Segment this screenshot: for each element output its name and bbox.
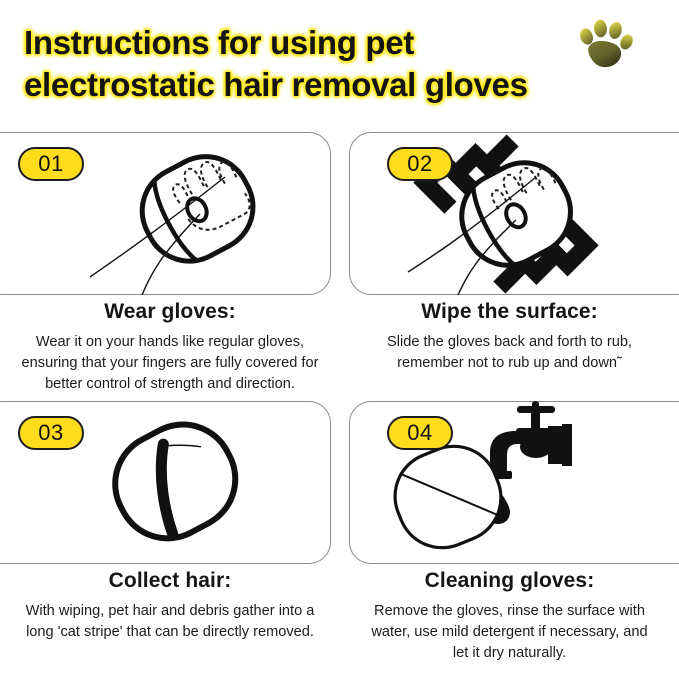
step-body-03: With wiping, pet hair and debris gather …	[0, 601, 340, 643]
step-caption-04: Cleaning gloves: Remove the gloves, rins…	[340, 569, 679, 664]
instruction-poster: Instructions for using pet electrostatic…	[0, 0, 679, 679]
step-caption-02: Wipe the surface: Slide the gloves back …	[340, 300, 679, 374]
step-title-03: Collect hair:	[0, 569, 340, 593]
steps-grid: 01 Wear gloves: Wear it on your hands li…	[0, 126, 679, 679]
step-badge-04: 04	[387, 416, 453, 450]
step-caption-03: Collect hair: With wiping, pet hair and …	[0, 569, 340, 643]
step-card-01: 01 Wear gloves: Wear it on your hands li…	[0, 126, 340, 395]
step-caption-01: Wear gloves: Wear it on your hands like …	[0, 300, 340, 395]
page-title: Instructions for using pet electrostatic…	[24, 22, 584, 106]
step-card-02: 02 Wipe the surface: Slide the gloves ba…	[340, 126, 679, 395]
step-body-02: Slide the gloves back and forth to rub, …	[340, 332, 679, 374]
step-title-01: Wear gloves:	[0, 300, 340, 324]
step-badge-01: 01	[18, 147, 84, 181]
step-title-02: Wipe the surface:	[340, 300, 679, 324]
poster-header: Instructions for using pet electrostatic…	[0, 0, 679, 126]
step-body-01: Wear it on your hands like regular glove…	[0, 332, 340, 395]
step-body-04: Remove the gloves, rinse the surface wit…	[340, 601, 679, 664]
step-card-03: 03 Collect hair: With wiping, pet hair a…	[0, 395, 340, 679]
step-badge-02: 02	[387, 147, 453, 181]
step-badge-03: 03	[18, 416, 84, 450]
step-card-04: 04 Cleaning gloves: Remove the gloves, r…	[340, 395, 679, 679]
paw-print-icon	[576, 16, 634, 70]
step-title-04: Cleaning gloves:	[340, 569, 679, 593]
